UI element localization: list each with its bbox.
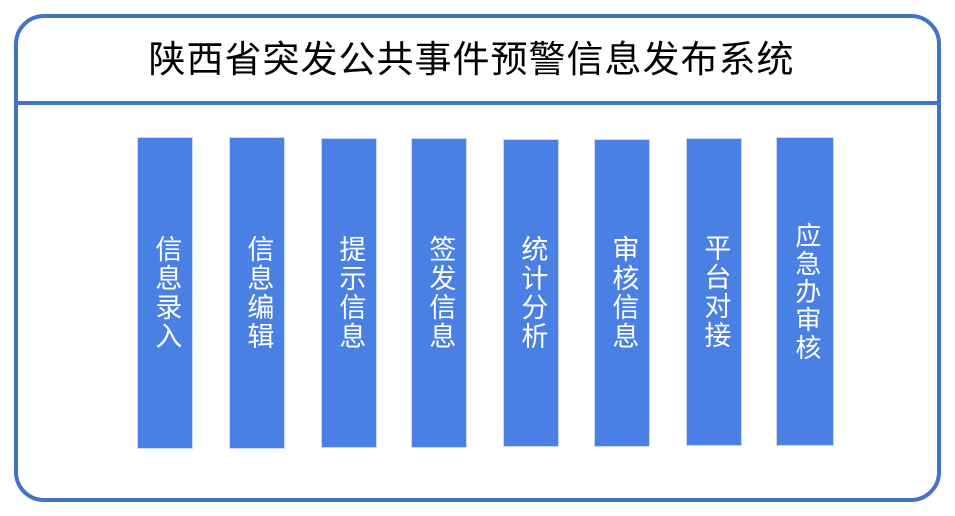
module-bar-label: 统计分析 [516, 235, 547, 351]
module-bar-label: 信息编辑 [242, 235, 273, 351]
module-bar-label: 签发信息 [424, 235, 455, 351]
module-bar[interactable]: 统计分析 [504, 140, 558, 446]
module-bar[interactable]: 平台对接 [687, 139, 741, 445]
module-bar-label: 平台对接 [699, 234, 730, 350]
module-bar-label: 提示信息 [334, 235, 365, 351]
module-bar-label: 审核信息 [607, 235, 638, 351]
module-bar[interactable]: 签发信息 [412, 139, 466, 447]
module-bar[interactable]: 信息编辑 [230, 138, 284, 448]
module-bar[interactable]: 信息录入 [138, 138, 192, 448]
title-band: 陕西省突发公共事件预警信息发布系统 [18, 18, 937, 103]
title-divider [18, 101, 937, 105]
page-title: 陕西省突发公共事件预警信息发布系统 [149, 41, 795, 80]
diagram-canvas: 陕西省突发公共事件预警信息发布系统 信息录入 信息编辑 提示信息 签发信息 统计… [0, 0, 955, 516]
module-bar-label: 信息录入 [150, 235, 181, 351]
module-bar-label: 应急办审核 [790, 222, 820, 362]
module-bar-group: 信息录入 信息编辑 提示信息 签发信息 统计分析 审核信息 平台对接 应急办审核 [138, 138, 834, 448]
module-bar[interactable]: 提示信息 [322, 139, 376, 447]
module-bar[interactable]: 应急办审核 [777, 138, 833, 445]
module-bar[interactable]: 审核信息 [595, 140, 649, 446]
